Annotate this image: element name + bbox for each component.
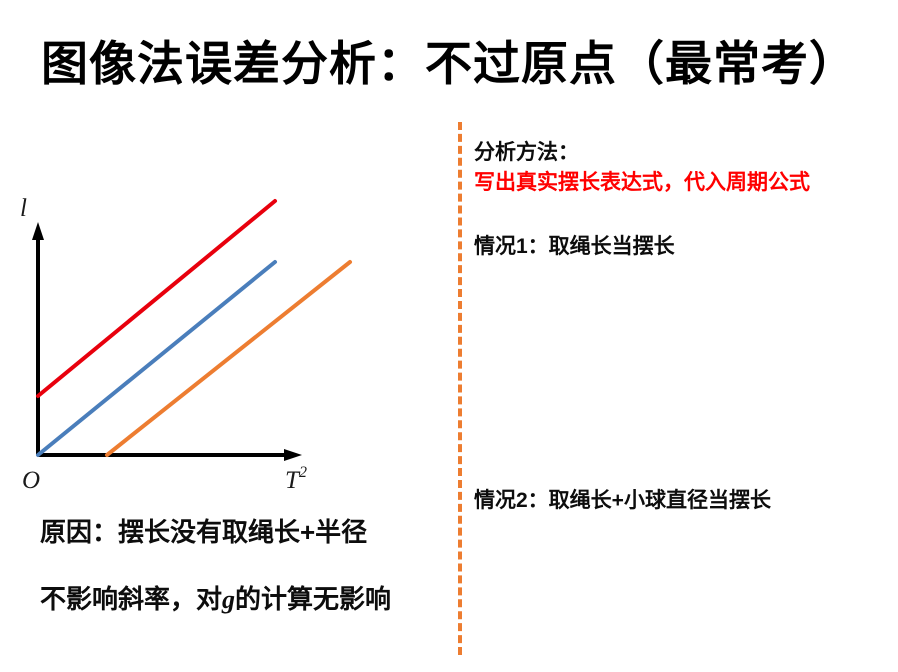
notes-panel: 原因：摆长没有取绳长+半径 不影响斜率，对g的计算无影响 — [40, 515, 460, 617]
note-conclusion: 不影响斜率，对g的计算无影响 — [40, 582, 460, 617]
series-line-blue — [38, 262, 275, 455]
y-axis-label: l — [20, 195, 27, 222]
error-analysis-chart: l O T 2 — [0, 180, 440, 510]
page-title: 图像法误差分析：不过原点（最常考） — [0, 36, 898, 91]
x-axis-label-exponent: 2 — [299, 464, 307, 481]
note-conclusion-prefix: 不影响斜率，对 — [40, 584, 222, 614]
note-conclusion-variable: g — [222, 585, 235, 614]
case-1-label: 情况1：取绳长当摆长 — [474, 232, 892, 262]
spacer — [474, 261, 892, 486]
spacer — [40, 550, 460, 582]
case-2-label: 情况2：取绳长+小球直径当摆长 — [474, 486, 892, 516]
spacer — [474, 198, 892, 232]
x-axis-label-group: T 2 — [285, 464, 307, 494]
origin-label: O — [22, 467, 40, 494]
note-conclusion-suffix: 的计算无影响 — [235, 584, 391, 614]
analysis-method-label: 分析方法： — [474, 138, 892, 168]
chart-canvas: l O T 2 — [0, 180, 440, 510]
analysis-panel: 分析方法： 写出真实摆长表达式，代入周期公式 情况1：取绳长当摆长 情况2：取绳… — [474, 138, 892, 516]
y-axis — [32, 222, 44, 455]
series-line-red — [38, 201, 275, 396]
series-line-orange — [107, 262, 350, 455]
x-axis — [38, 449, 302, 461]
note-reason: 原因：摆长没有取绳长+半径 — [40, 515, 460, 550]
analysis-method-detail: 写出真实摆长表达式，代入周期公式 — [474, 168, 892, 198]
